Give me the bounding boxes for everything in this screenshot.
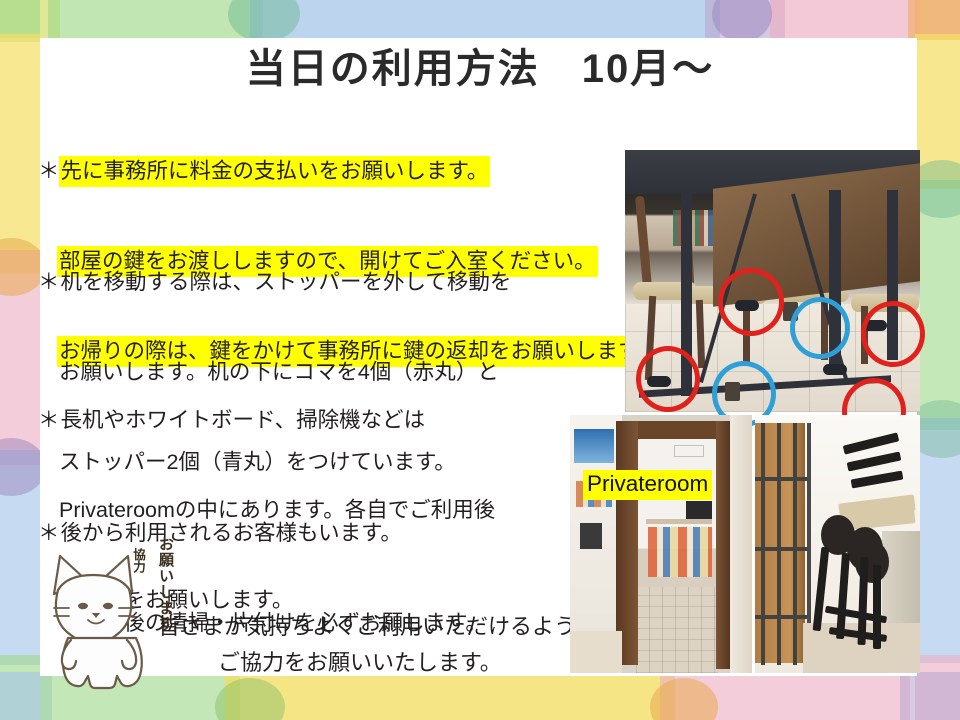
closing-line-1: 皆さまが気持ちよくご利用いただけるよう <box>158 612 576 642</box>
page-title: 当日の利用方法 10月〜 <box>0 36 960 94</box>
closing-line-2: ご協力をお願いいたします。 <box>218 648 502 678</box>
border-block-right-orange <box>915 0 960 40</box>
border-block-top-blue <box>250 0 720 40</box>
photo-caster <box>823 364 847 375</box>
photo-board-posters <box>648 527 712 577</box>
border-block-right-blue <box>915 418 960 663</box>
border-block-top-green <box>48 0 263 40</box>
border-block-bottom-pink <box>660 672 910 720</box>
border-blob-bottom-orange <box>650 678 718 720</box>
annotation-circle-red-caster-1 <box>718 268 784 336</box>
photo-shelf <box>646 519 712 524</box>
photo-monitor <box>686 501 712 519</box>
border-block-left-pink <box>0 250 40 465</box>
border-block-top-pink <box>770 0 920 40</box>
paragraph-line: 先に事務所に料金の支払いをお願いします。 <box>61 158 489 185</box>
border-block-top-orange <box>908 0 960 40</box>
privateroom-label: Privateroom <box>583 470 712 500</box>
paragraph-line: 長机やホワイトボード、掃除機などは <box>61 408 426 432</box>
slide-canvas: 当日の利用方法 10月〜 ＊先に事務所に料金の支払いをお願いします。 部屋の鍵を… <box>0 0 960 720</box>
border-block-top-yellowgreen <box>0 0 60 38</box>
border-block-right-green <box>915 180 960 430</box>
annotation-circle-blue-stopper-1 <box>790 297 850 359</box>
bullet-marker: ＊ <box>38 159 60 183</box>
photo-wall-poster <box>574 429 614 463</box>
photo-storage-folding-tables <box>755 415 920 673</box>
border-block-top-purple <box>705 0 785 40</box>
photo-door-jamb-left <box>616 421 638 665</box>
border-block-bottom-purple <box>900 672 960 720</box>
photo-corridor-floor <box>570 631 622 673</box>
paragraph-line: 机を移動する際は、ストッパーを外して移動を <box>61 270 512 294</box>
mascot-text-request: お願いします <box>140 536 174 654</box>
annotation-circle-red-caster-3 <box>636 346 700 412</box>
photo-ceiling-vent <box>674 445 704 457</box>
bullet-marker: ＊ <box>38 408 60 432</box>
border-block-right-pink <box>915 655 960 720</box>
photo-room-floor <box>636 587 718 673</box>
bullet-marker: ＊ <box>38 270 60 294</box>
annotation-circle-red-caster-2 <box>861 301 925 367</box>
photo-privateroom-doorway <box>570 415 752 673</box>
photo-wall-poster <box>580 523 602 549</box>
cat-mascot-illustration <box>24 540 204 690</box>
photo-right-wall <box>730 415 752 673</box>
